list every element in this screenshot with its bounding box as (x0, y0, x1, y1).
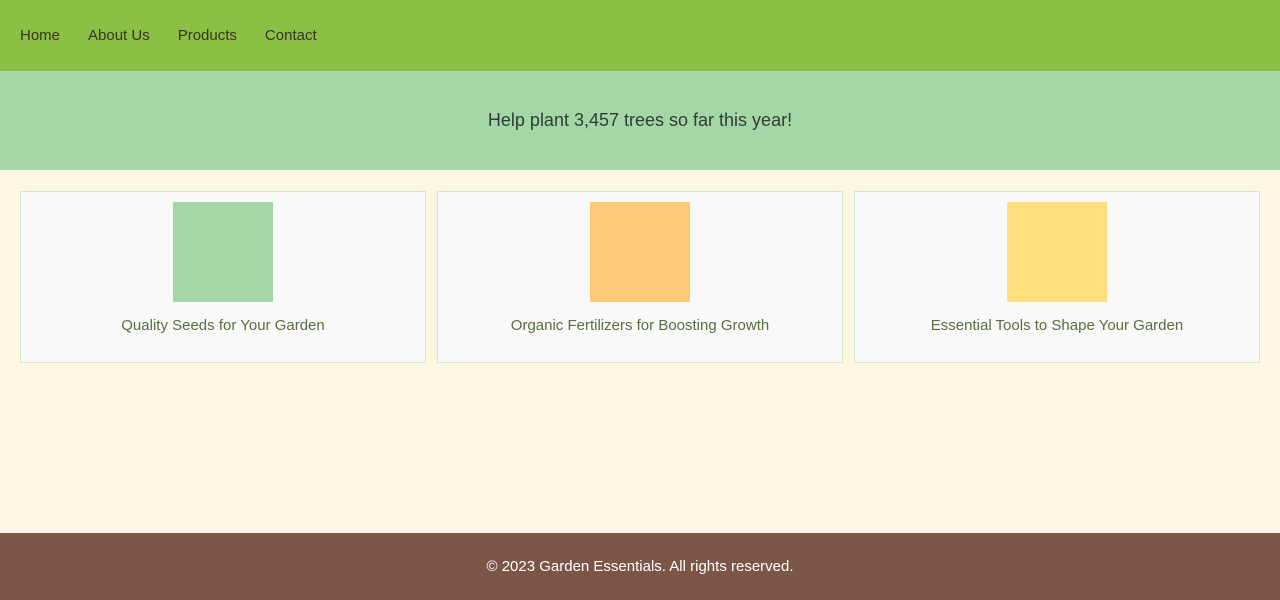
product-card-label: Quality Seeds for Your Garden (121, 317, 324, 335)
banner-message: Help plant 3,457 trees so far this year! (488, 110, 792, 132)
site-footer: © 2023 Garden Essentials. All rights res… (0, 533, 1280, 600)
nav-link-products[interactable]: Products (178, 28, 237, 43)
product-card-label: Organic Fertilizers for Boosting Growth (511, 317, 769, 335)
nav-link-about-us[interactable]: About Us (88, 28, 150, 43)
product-card[interactable]: Essential Tools to Shape Your Garden (854, 191, 1260, 363)
fertilizer-swatch (590, 202, 690, 302)
product-card-grid: Quality Seeds for Your Garden Organic Fe… (0, 170, 1280, 363)
seed-swatch (173, 202, 273, 302)
announcement-banner: Help plant 3,457 trees so far this year! (0, 71, 1280, 170)
nav-link-home[interactable]: Home (20, 28, 60, 43)
main-navigation: Home About Us Products Contact (0, 0, 1280, 71)
product-card[interactable]: Quality Seeds for Your Garden (20, 191, 426, 363)
product-card-label: Essential Tools to Shape Your Garden (931, 317, 1183, 335)
nav-link-contact[interactable]: Contact (265, 28, 317, 43)
tools-swatch (1007, 202, 1107, 302)
footer-copyright: © 2023 Garden Essentials. All rights res… (486, 558, 793, 576)
product-card[interactable]: Organic Fertilizers for Boosting Growth (437, 191, 843, 363)
